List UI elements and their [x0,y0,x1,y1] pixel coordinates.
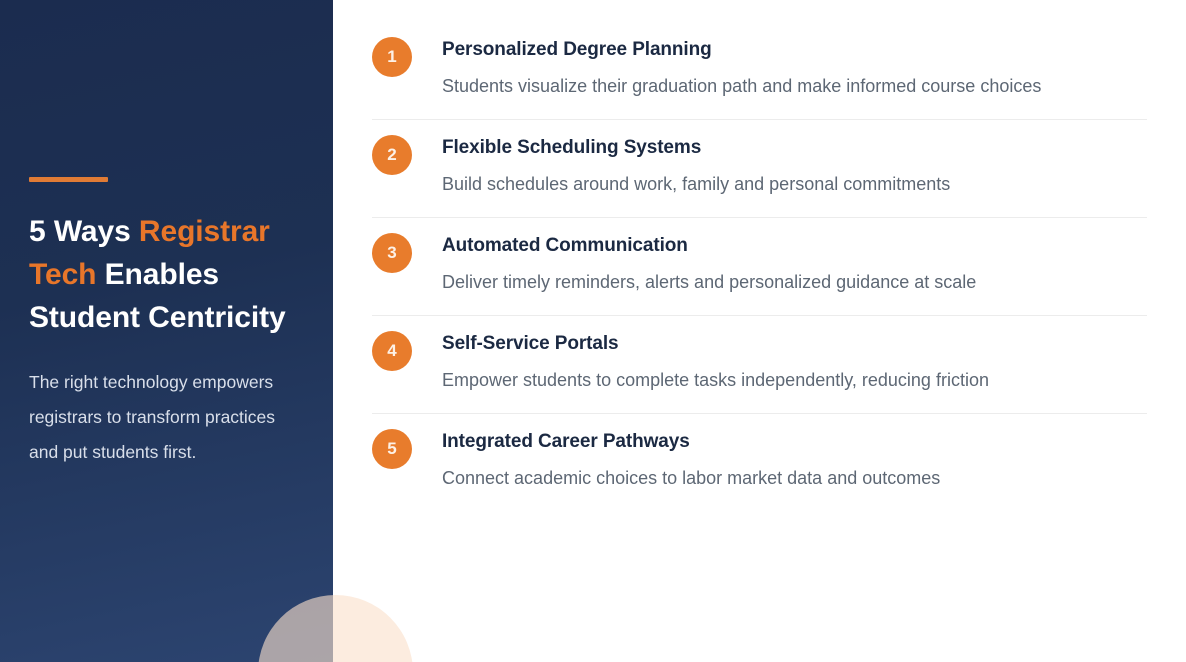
item-text: Integrated Career Pathways Connect acade… [442,429,1147,495]
item-title: Automated Communication [442,234,1147,258]
item-number-badge: 5 [372,429,412,469]
slide-subtitle: The right technology empowers registrars… [29,365,291,470]
sidebar-content: 5 Ways Registrar Tech Enables Student Ce… [29,177,304,470]
item-description: Empower students to complete tasks indep… [442,363,1132,397]
list-item: 2 Flexible Scheduling Systems Build sche… [372,120,1147,218]
item-title: Personalized Degree Planning [442,38,1147,62]
item-title: Integrated Career Pathways [442,430,1147,454]
item-title: Self-Service Portals [442,332,1147,356]
slide-title: 5 Ways Registrar Tech Enables Student Ce… [29,210,304,339]
list-item: 4 Self-Service Portals Empower students … [372,316,1147,414]
item-description: Students visualize their graduation path… [442,69,1132,103]
slide: 5 Ways Registrar Tech Enables Student Ce… [0,0,1186,662]
item-text: Self-Service Portals Empower students to… [442,331,1147,397]
item-description: Build schedules around work, family and … [442,167,1132,201]
item-number-badge: 1 [372,37,412,77]
content-panel: 1 Personalized Degree Planning Students … [333,0,1186,662]
list-item: 5 Integrated Career Pathways Connect aca… [372,414,1147,511]
accent-bar [29,177,108,182]
item-number-badge: 2 [372,135,412,175]
list-item: 1 Personalized Degree Planning Students … [372,22,1147,120]
list-item: 3 Automated Communication Deliver timely… [372,218,1147,316]
item-text: Personalized Degree Planning Students vi… [442,37,1147,103]
sidebar-panel: 5 Ways Registrar Tech Enables Student Ce… [0,0,333,662]
item-number-badge: 3 [372,233,412,273]
item-text: Flexible Scheduling Systems Build schedu… [442,135,1147,201]
item-description: Connect academic choices to labor market… [442,461,1132,495]
item-description: Deliver timely reminders, alerts and per… [442,265,1132,299]
item-title: Flexible Scheduling Systems [442,136,1147,160]
item-number-badge: 4 [372,331,412,371]
feature-list: 1 Personalized Degree Planning Students … [372,22,1147,511]
item-text: Automated Communication Deliver timely r… [442,233,1147,299]
slide-title-part-1: 5 Ways [29,215,139,248]
